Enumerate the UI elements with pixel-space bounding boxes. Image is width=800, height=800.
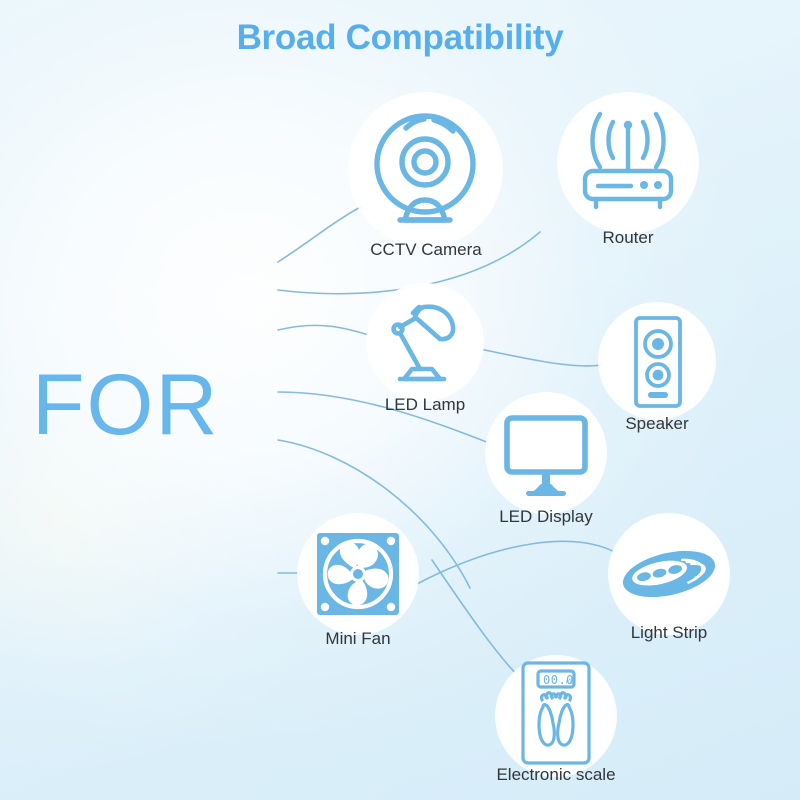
fan-icon [297,513,419,635]
device-light-strip[interactable]: Light Strip [608,513,730,665]
monitor-icon [485,392,607,514]
device-electronic-scale[interactable]: 00.0 KG Electronic scale [495,655,617,800]
device-label: Router [537,228,719,248]
device-router[interactable]: Router [557,92,699,262]
connector-to-led-lamp [278,325,372,336]
device-led-lamp[interactable]: LED Lamp [366,283,484,431]
router-icon [557,92,699,234]
bathroom-scale-icon: 00.0 KG [495,655,617,777]
light-strip-icon [608,513,730,635]
connector-to-speaker [466,346,608,366]
speaker-icon [598,302,716,420]
desk-lamp-icon [366,283,484,401]
device-speaker[interactable]: Speaker [598,302,716,450]
device-mini-fan[interactable]: Mini Fan [297,513,419,665]
device-label: Light Strip [579,623,759,643]
scale-readout-unit: KG [566,680,574,686]
device-label: Electronic scale [466,765,646,785]
cctv-camera-icon [348,92,503,247]
device-cctv-camera[interactable]: CCTV Camera [348,92,503,267]
device-led-display[interactable]: LED Display [485,392,607,544]
device-label: CCTV Camera [330,240,522,260]
infographic-canvas: Broad Compatibility FOR [0,0,800,800]
device-label: Mini Fan [268,629,448,649]
